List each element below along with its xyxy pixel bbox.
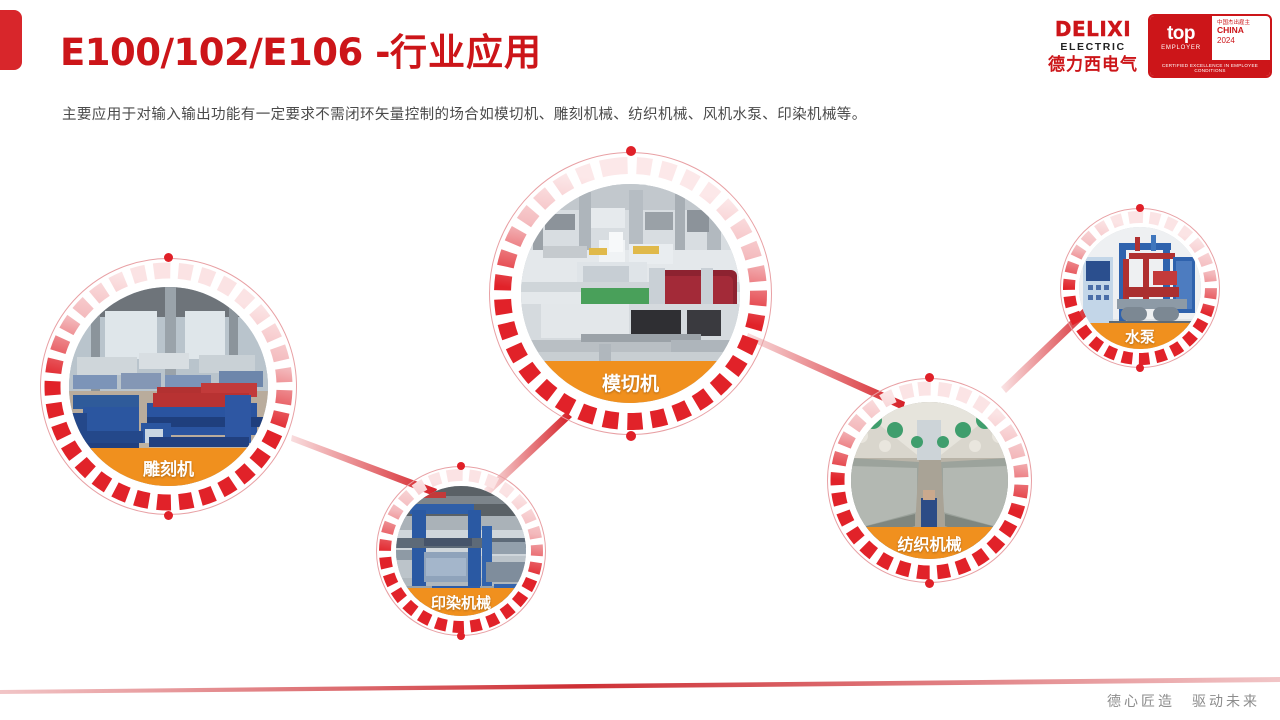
node-dot-top	[164, 253, 173, 262]
node-dot-bottom	[164, 511, 173, 520]
node-label-band-textile: 纺织机械	[851, 527, 1008, 559]
node-label-textile: 纺织机械	[897, 531, 961, 555]
node-label-engraving: 雕刻机	[143, 455, 194, 480]
node-label-band-printing: 印染机械	[396, 588, 526, 616]
node-diecutting[interactable]: 模切机	[489, 152, 772, 435]
node-photo-printing: 印染机械	[396, 486, 526, 616]
footer-slogan: 德心匠造 驱动未来	[1107, 691, 1260, 711]
node-label-band-diecutting: 模切机	[521, 361, 740, 403]
node-dot-bottom	[457, 632, 465, 640]
node-engraving[interactable]: 雕刻机	[40, 258, 297, 515]
node-label-band-waterpump: 水泵	[1079, 323, 1201, 349]
node-photo-diecutting: 模切机	[521, 184, 740, 403]
node-dot-top	[626, 146, 636, 156]
footer-divider	[0, 660, 1280, 720]
slide-root: E100/102/E106 -行业应用 主要应用于对输入输出功能有一定要求不需闭…	[0, 0, 1280, 720]
node-label-diecutting: 模切机	[602, 369, 659, 396]
node-dot-bottom	[1136, 364, 1144, 372]
node-photo-textile: 纺织机械	[851, 402, 1008, 559]
node-photo-waterpump: 水泵	[1079, 227, 1201, 349]
node-dot-bottom	[925, 579, 934, 588]
node-label-band-engraving: 雕刻机	[69, 448, 268, 486]
node-dot-bottom	[626, 431, 636, 441]
node-dot-top	[925, 373, 934, 382]
node-textile[interactable]: 纺织机械	[827, 378, 1032, 583]
node-dot-top	[1136, 204, 1144, 212]
node-label-printing: 印染机械	[431, 592, 491, 613]
node-photo-engraving: 雕刻机	[69, 287, 268, 486]
node-dot-top	[457, 462, 465, 470]
node-waterpump[interactable]: 水泵	[1060, 208, 1220, 368]
node-label-waterpump: 水泵	[1125, 326, 1155, 347]
node-printing[interactable]: 印染机械	[376, 466, 546, 636]
